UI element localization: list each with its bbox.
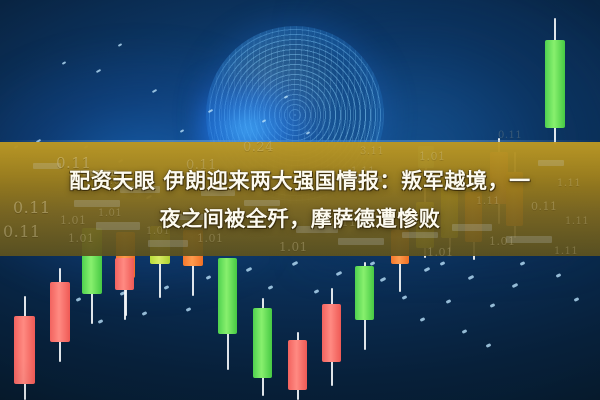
particle-speck [468,275,475,280]
particle-speck [420,317,426,322]
candlestick-c1 [14,296,35,400]
headline-line-1: 配资天眼 伊朗迎来两大强国情报：叛军越境，一 [0,162,600,200]
candlestick-c10 [288,332,307,400]
candlestick-c9 [253,298,272,396]
particle-speck [314,289,320,294]
candle-body-up [253,308,272,378]
particle-speck [424,267,431,272]
particle-speck [262,119,266,123]
candle-body-down [115,258,134,290]
particle-speck [118,43,122,47]
candlestick-c2 [50,268,70,362]
particle-speck [246,267,253,272]
particle-speck [486,343,492,348]
candle-body-down [14,316,35,384]
particle-speck [402,295,408,300]
candlestick-c8 [218,258,237,370]
particle-speck [186,307,192,312]
particle-speck [268,285,274,290]
particle-speck [512,283,519,288]
particle-speck [96,69,101,73]
particle-speck [440,261,446,266]
particle-speck [142,311,148,316]
particle-speck [62,61,66,65]
particle-speck [180,129,184,133]
particle-speck [206,275,212,280]
news-banner-image: 0.111.010.111.110.243.110.110.111.011.01… [0,0,600,400]
candlestick-c12 [355,262,374,350]
particle-speck [574,297,580,302]
particle-speck [490,303,496,308]
ticker-blip [148,240,188,247]
headline-line-2: 夜之间被全歼，摩萨德遭惨败 [0,200,600,238]
particle-speck [284,95,288,99]
candle-body-down [50,282,70,342]
ticker-value: 3.11 [360,146,384,157]
ticker-value: 0.11 [498,130,522,141]
particle-speck [462,329,468,334]
ticker-value: 1.01 [279,240,308,254]
particle-speck [208,109,213,113]
particle-speck [306,131,310,135]
candle-body-up [218,258,237,334]
particle-speck [380,277,387,282]
ticker-value: 0.24 [243,140,274,155]
candlestick-c19 [545,18,565,144]
particle-speck [76,297,82,302]
particle-speck [292,261,299,266]
ticker-blip [338,238,384,245]
ticker-value: 1.11 [554,246,578,257]
ticker-value: 1.01 [427,246,454,259]
candlestick-c11 [322,288,341,386]
candle-body-down [322,304,341,362]
particle-speck [520,261,526,266]
candle-body-up [355,266,374,320]
candle-body-up [545,40,565,128]
particle-speck [556,273,562,278]
particle-speck [336,271,343,276]
particle-speck [446,299,452,304]
candlestick-c5 [115,258,134,320]
candle-body-down [288,340,307,390]
particle-speck [152,89,157,93]
